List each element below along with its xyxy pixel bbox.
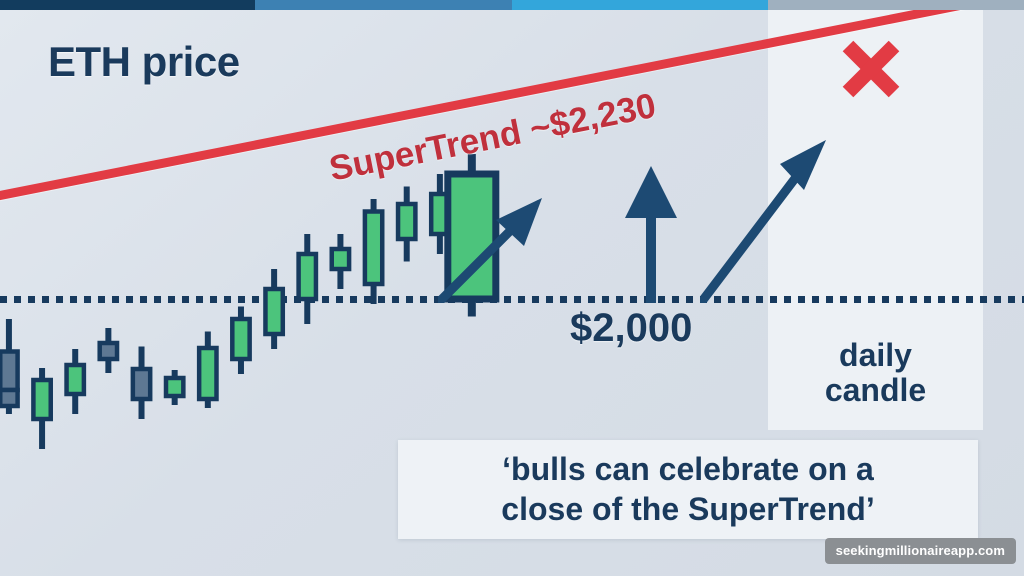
candle <box>133 347 150 420</box>
segment-navy <box>0 0 255 10</box>
page-title: ETH price <box>48 38 240 86</box>
up-right-arrow-icon <box>438 198 546 303</box>
up-arrow-icon <box>624 166 680 303</box>
quote-line-1: ‘bulls can celebrate on a <box>501 450 874 489</box>
up-right-arrow-icon <box>700 140 828 303</box>
candle <box>265 269 282 349</box>
quote-line-2: close of the SuperTrend’ <box>501 490 874 529</box>
candle <box>166 370 183 405</box>
quote-card: ‘bulls can celebrate on a close of the S… <box>398 440 978 539</box>
candle <box>398 187 415 262</box>
candle <box>100 328 117 373</box>
candle <box>365 199 382 304</box>
slide-canvas: ETH price SuperTrend ~$2,230 $2,000 dail… <box>0 0 1024 576</box>
watermark-badge: seekingmillionaireapp.com <box>825 538 1016 564</box>
segment-cyan <box>512 0 768 10</box>
support-level-label: $2,000 <box>570 306 692 351</box>
candle <box>232 307 249 375</box>
candle <box>199 332 216 409</box>
segment-steel <box>255 0 512 10</box>
top-color-ribbon <box>0 0 1024 10</box>
quote-text: ‘bulls can celebrate on a close of the S… <box>487 450 888 528</box>
candle <box>299 234 316 324</box>
daily-candle-label-line2: candle <box>768 373 983 408</box>
candle <box>332 234 349 289</box>
daily-candle-label-line1: daily <box>768 338 983 373</box>
candle <box>33 368 50 449</box>
candle <box>67 349 84 414</box>
segment-grey <box>768 0 1024 10</box>
cross-mark-icon <box>840 38 902 100</box>
candle <box>0 390 17 414</box>
daily-candle-label: daily candle <box>768 338 983 407</box>
